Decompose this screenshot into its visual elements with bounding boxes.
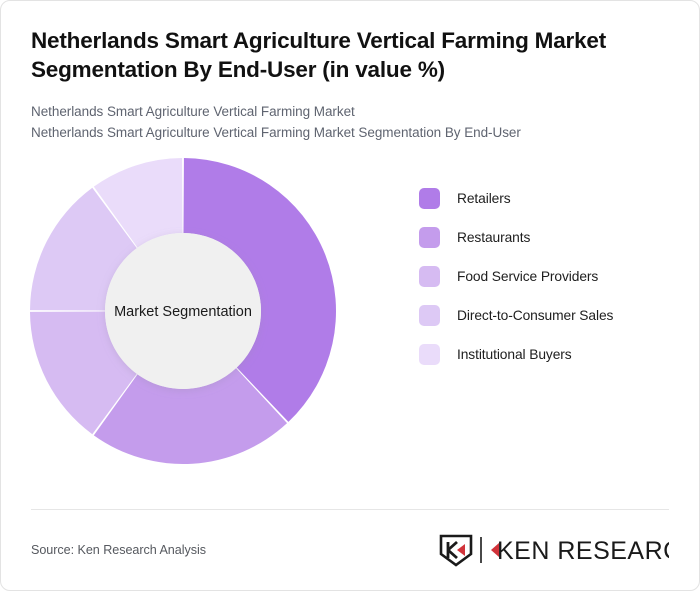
page-title: Netherlands Smart Agriculture Vertical F… [31,27,631,85]
source-note: Source: Ken Research Analysis [31,543,206,557]
legend-item-label: Retailers [457,191,511,206]
chart-card: Netherlands Smart Agriculture Vertical F… [0,0,700,591]
logo-shield-mark [441,536,471,565]
legend-item[interactable]: Retailers [419,179,674,218]
legend-swatch-icon [419,344,440,365]
chart-footer: Source: Ken Research Analysis KEN RESEAR… [31,509,669,590]
legend-swatch-icon [419,188,440,209]
chart-body: Market Segmentation RetailersRestaurants… [1,143,699,493]
legend-item[interactable]: Restaurants [419,218,674,257]
legend-swatch-icon [419,227,440,248]
legend-item-label: Institutional Buyers [457,347,572,362]
legend-item-label: Direct-to-Consumer Sales [457,308,613,323]
chart-subtitle-primary: Netherlands Smart Agriculture Vertical F… [31,102,669,123]
legend-item[interactable]: Direct-to-Consumer Sales [419,296,674,335]
chart-subtitle-secondary: Netherlands Smart Agriculture Vertical F… [31,123,669,144]
legend-swatch-icon [419,266,440,287]
ken-research-logo: KEN RESEARCH [437,533,669,567]
chart-header: Netherlands Smart Agriculture Vertical F… [1,1,699,143]
legend-item[interactable]: Food Service Providers [419,257,674,296]
legend-item[interactable]: Institutional Buyers [419,335,674,374]
logo-wordmark: KEN RESEARCH [497,537,669,565]
legend-item-label: Restaurants [457,230,530,245]
logo-svg: KEN RESEARCH [437,533,669,567]
chart-legend: RetailersRestaurantsFood Service Provide… [419,179,674,373]
donut-center-label: Market Segmentation [114,304,252,320]
donut-chart: Market Segmentation [26,149,346,469]
chart-subtitles: Netherlands Smart Agriculture Vertical F… [31,102,669,144]
legend-item-label: Food Service Providers [457,269,598,284]
donut-svg: Market Segmentation [26,149,346,469]
legend-swatch-icon [419,305,440,326]
